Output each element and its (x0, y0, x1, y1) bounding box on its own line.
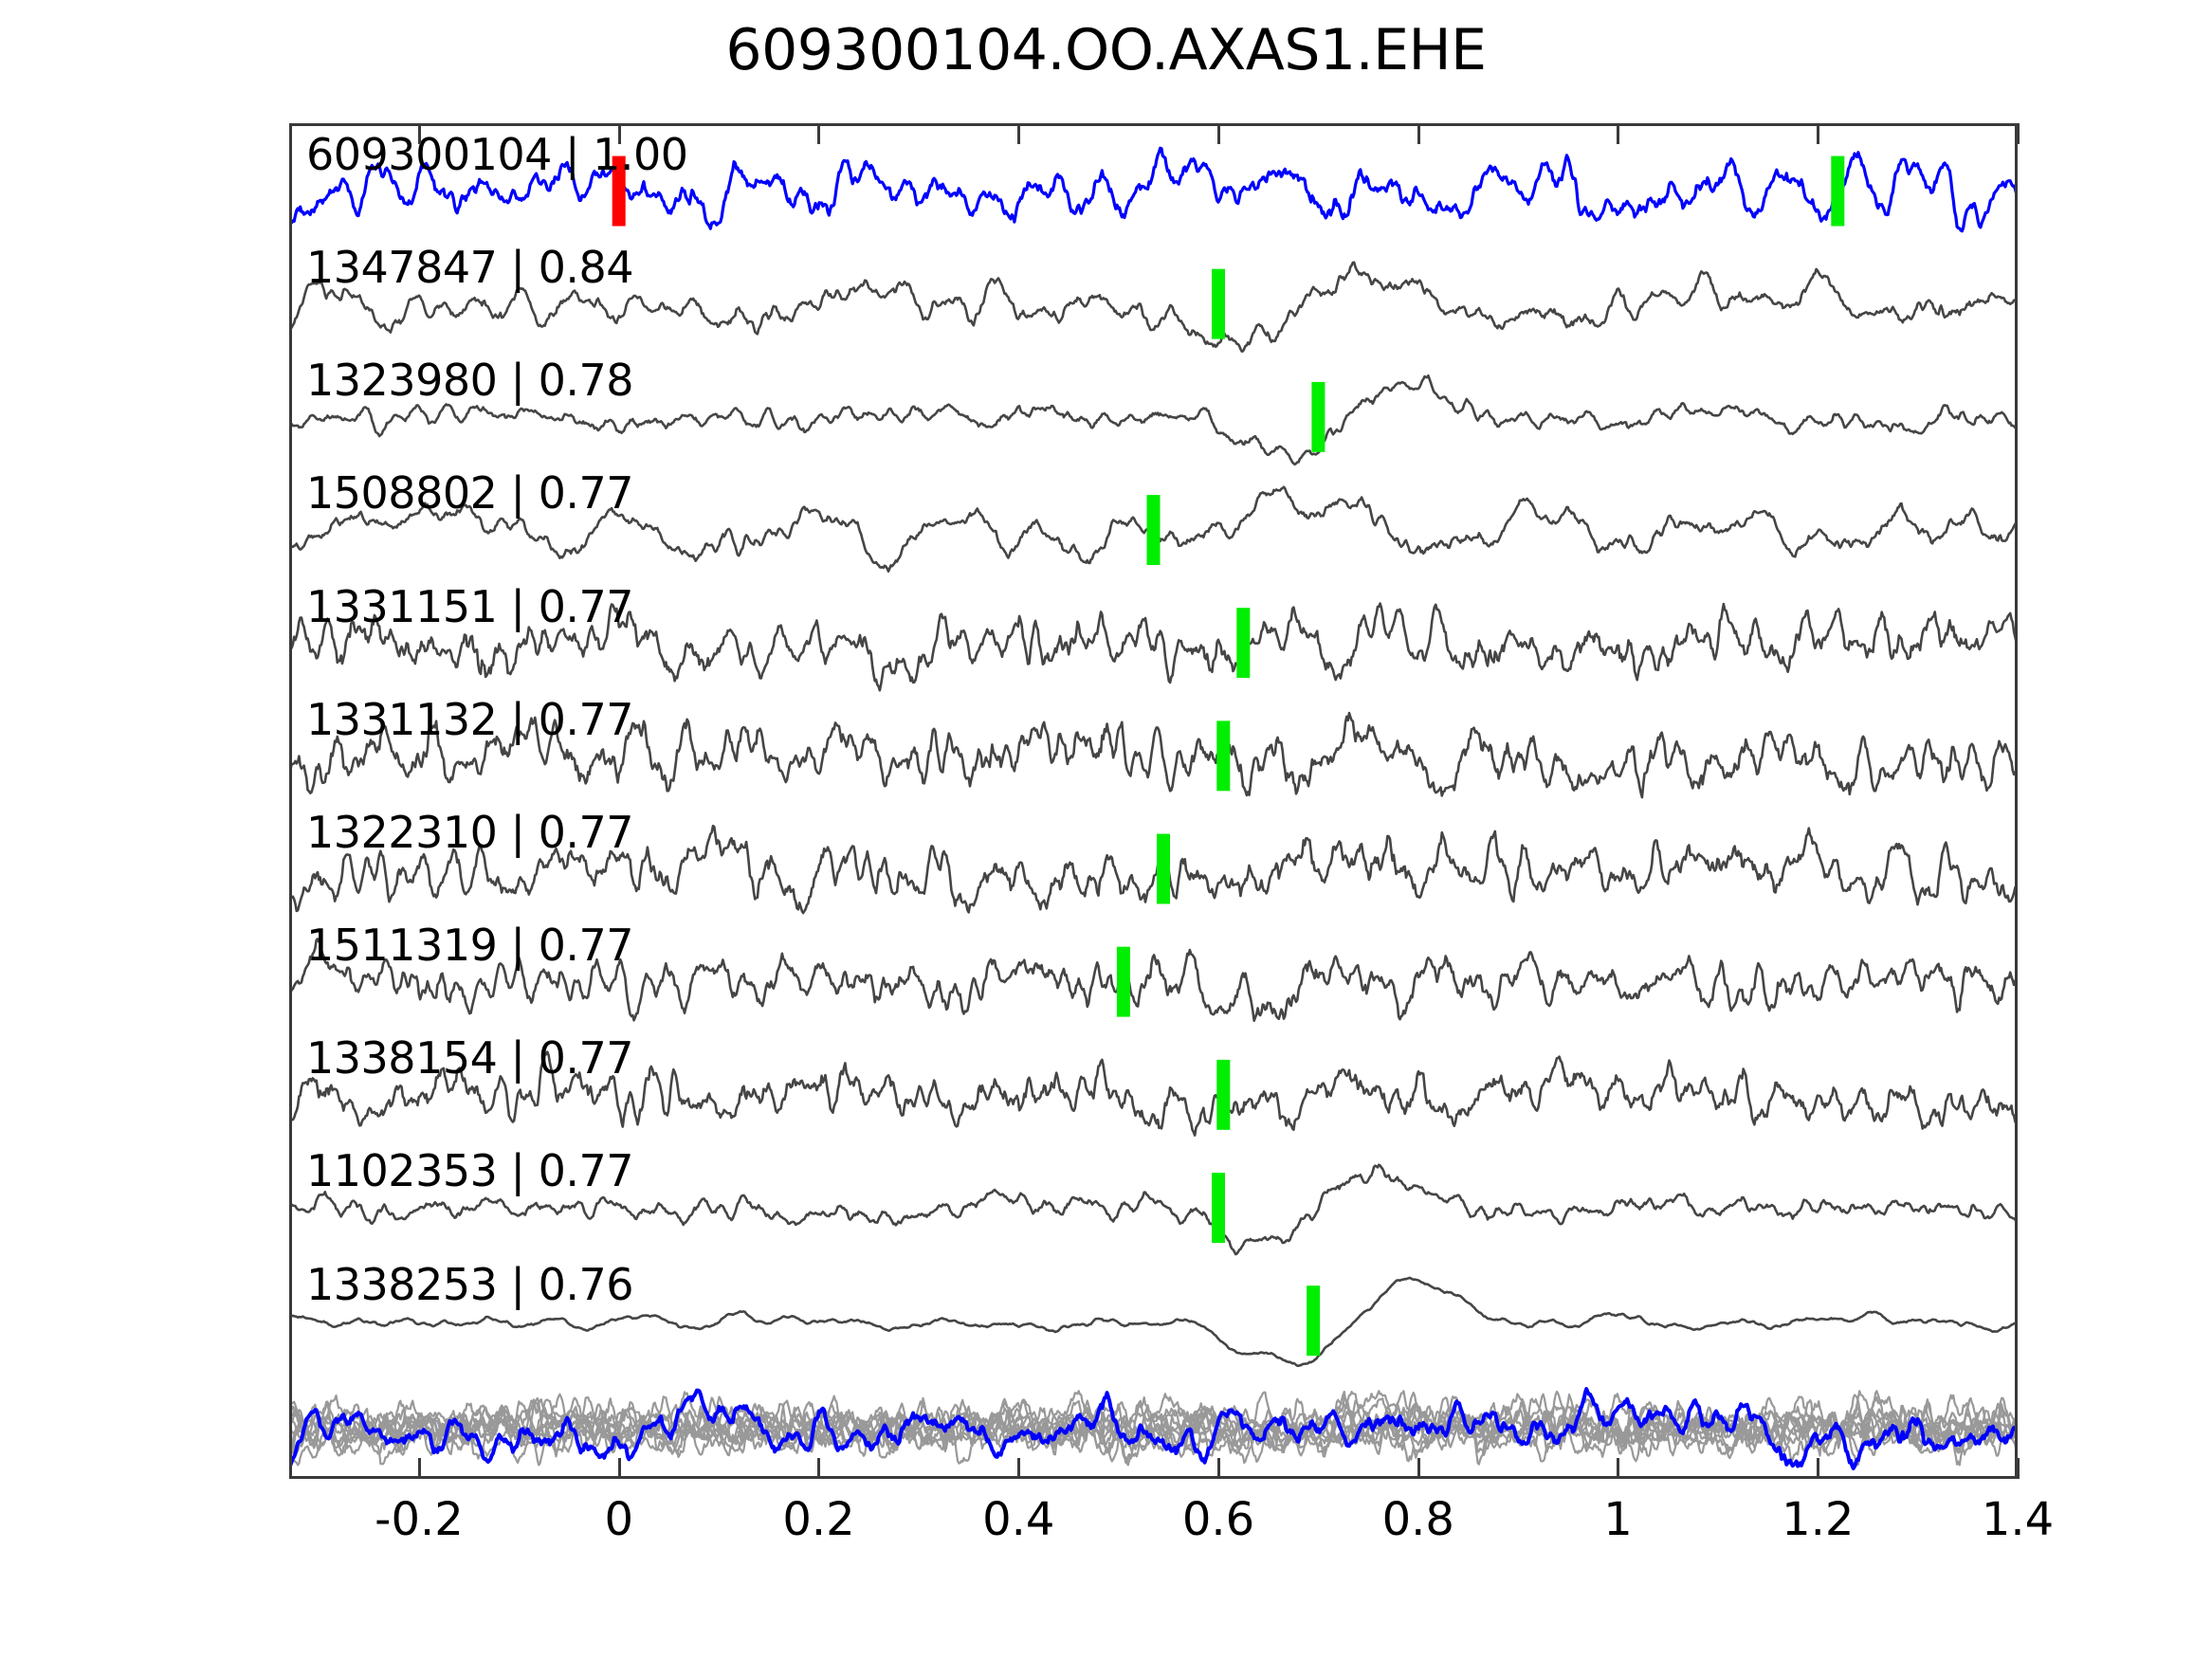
trace-label-1322310: 1322310 | 0.77 (306, 807, 633, 858)
pick-marker-1322310 (1157, 834, 1170, 904)
x-tick-bottom (1417, 1458, 1420, 1479)
trace-label-1338253: 1338253 | 0.76 (306, 1259, 633, 1310)
pick-marker-1331132 (1216, 720, 1230, 791)
trace-label-1347847: 1347847 | 0.84 (306, 242, 633, 293)
trace-label-1323980: 1323980 | 0.78 (306, 355, 633, 406)
pick-marker-1511319 (1117, 947, 1130, 1017)
x-tick-top (618, 123, 621, 144)
trace-label-1331132: 1331132 | 0.77 (306, 694, 633, 745)
x-tick-label: 0 (604, 1493, 633, 1546)
x-tick-label: 0.8 (1382, 1493, 1454, 1546)
secondary-pick-marker-609300104 (1831, 156, 1844, 227)
x-tick-top (2017, 123, 2020, 144)
seismic-waveform-figure: 609300104.OO.AXAS1.EHE 609300104 | 1.001… (0, 0, 2212, 1659)
x-tick-label: 0.4 (982, 1493, 1054, 1546)
x-tick-label: 0.6 (1182, 1493, 1254, 1546)
x-tick-bottom (1817, 1458, 1819, 1479)
trace-label-609300104: 609300104 | 1.00 (306, 129, 688, 180)
x-tick-top (817, 123, 820, 144)
pick-marker-1102353 (1212, 1173, 1225, 1243)
x-tick-label: -0.2 (375, 1493, 464, 1546)
x-tick-bottom (418, 1458, 421, 1479)
x-tick-label: 1 (1603, 1493, 1633, 1546)
x-tick-bottom (2017, 1458, 2020, 1479)
x-tick-bottom (1017, 1458, 1020, 1479)
x-tick-bottom (1617, 1458, 1619, 1479)
x-tick-top (1617, 123, 1619, 144)
x-tick-label: 1.4 (1982, 1493, 2054, 1546)
x-tick-top (1217, 123, 1220, 144)
x-tick-top (418, 123, 421, 144)
trace-label-1508802: 1508802 | 0.77 (306, 467, 633, 519)
trace-label-1511319: 1511319 | 0.77 (306, 920, 633, 971)
x-tick-bottom (817, 1458, 820, 1479)
pick-marker-1323980 (1311, 382, 1325, 452)
x-tick-top (1817, 123, 1819, 144)
trace-label-1102353: 1102353 | 0.77 (306, 1145, 633, 1196)
x-tick-bottom (1217, 1458, 1220, 1479)
x-tick-label: 1.2 (1782, 1493, 1854, 1546)
x-tick-top (1017, 123, 1020, 144)
trace-label-1331151: 1331151 | 0.77 (306, 581, 633, 632)
x-tick-label: 0.2 (782, 1493, 854, 1546)
trace-label-1338154: 1338154 | 0.77 (306, 1032, 633, 1084)
pick-marker-1338253 (1307, 1285, 1320, 1356)
page-title: 609300104.OO.AXAS1.EHE (0, 17, 2212, 83)
pick-marker-1508802 (1147, 495, 1161, 565)
pick-marker-1347847 (1212, 269, 1225, 339)
pick-marker-1338154 (1216, 1060, 1230, 1130)
x-tick-top (1417, 123, 1420, 144)
pick-marker-1331151 (1236, 608, 1250, 678)
x-tick-bottom (618, 1458, 621, 1479)
